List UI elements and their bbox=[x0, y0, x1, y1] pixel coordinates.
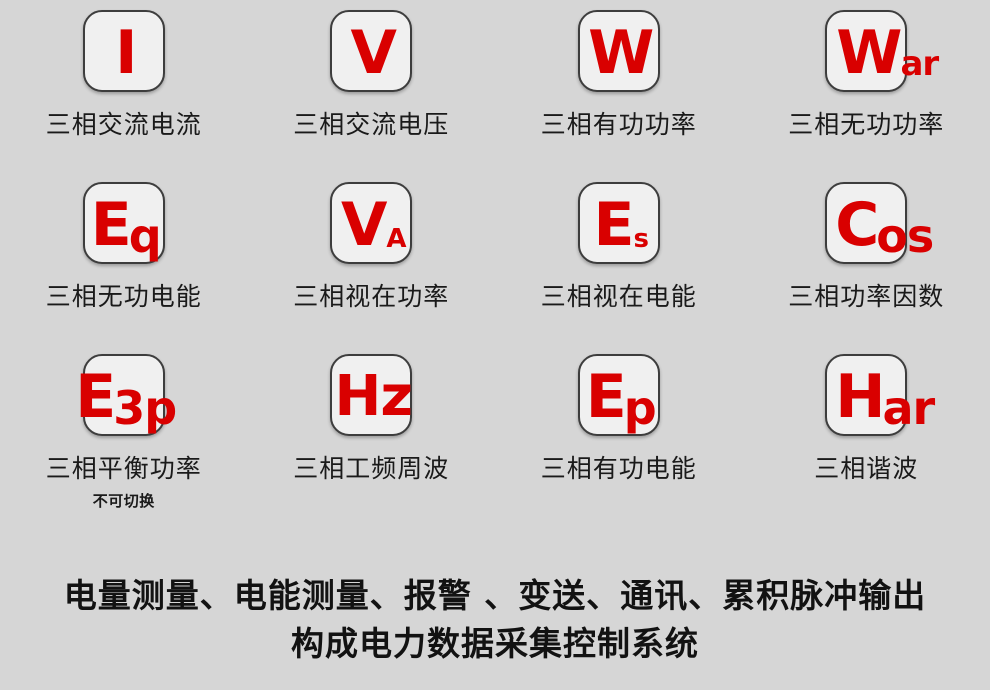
feature-item-reactive-power[interactable]: War 三相无功功率 bbox=[743, 10, 990, 141]
power-factor-icon-glyph: Cos bbox=[827, 184, 950, 266]
feature-item-active-power[interactable]: W 三相有功功率 bbox=[495, 10, 743, 141]
feature-label: 三相交流电压 bbox=[293, 105, 449, 141]
feature-item-reactive-energy[interactable]: Eq 三相无功电能 bbox=[0, 182, 248, 313]
feature-item-apparent-power[interactable]: VA 三相视在功率 bbox=[248, 182, 496, 313]
reactive-energy-icon[interactable]: Eq bbox=[83, 182, 165, 264]
feature-item-current[interactable]: I 三相交流电流 bbox=[0, 10, 248, 141]
footer-line-2: 构成电力数据采集控制系统 bbox=[0, 620, 990, 668]
feature-label: 三相有功功率 bbox=[541, 105, 697, 141]
feature-item-balanced-power[interactable]: E3p 三相平衡功率 不可切换 bbox=[0, 354, 248, 511]
power-factor-icon[interactable]: Cos bbox=[825, 182, 907, 264]
current-icon[interactable]: I bbox=[83, 10, 165, 92]
balanced-power-icon[interactable]: E3p bbox=[83, 354, 165, 436]
active-power-icon[interactable]: W bbox=[578, 10, 660, 92]
feature-label: 三相无功电能 bbox=[46, 277, 202, 313]
frequency-icon[interactable]: Hz bbox=[330, 354, 412, 436]
current-icon-glyph: I bbox=[85, 12, 167, 94]
apparent-power-icon[interactable]: VA bbox=[330, 182, 412, 264]
active-energy-icon[interactable]: Ep bbox=[578, 354, 660, 436]
feature-label: 三相无功功率 bbox=[788, 105, 944, 141]
harmonics-icon[interactable]: Har bbox=[825, 354, 907, 436]
footer-line-1: 电量测量、电能测量、报警 、变送、通讯、累积脉冲输出 bbox=[0, 572, 990, 620]
feature-grid: I 三相交流电流 V 三相交流电压 W 三相有功功率 War 三相无功功率 Eq… bbox=[0, 0, 990, 526]
feature-item-apparent-energy[interactable]: Es 三相视在电能 bbox=[495, 182, 743, 313]
feature-item-harmonics[interactable]: Har 三相谐波 bbox=[743, 354, 990, 485]
balanced-power-icon-glyph: E3p bbox=[85, 356, 167, 438]
feature-item-power-factor[interactable]: Cos 三相功率因数 bbox=[743, 182, 990, 313]
feature-label: 三相有功电能 bbox=[541, 449, 697, 485]
feature-item-active-energy[interactable]: Ep 三相有功电能 bbox=[495, 354, 743, 485]
apparent-energy-icon[interactable]: Es bbox=[578, 182, 660, 264]
active-energy-icon-glyph: Ep bbox=[580, 356, 662, 438]
harmonics-icon-glyph: Har bbox=[827, 356, 950, 438]
feature-sublabel: 不可切换 bbox=[93, 490, 155, 511]
apparent-energy-icon-glyph: Es bbox=[580, 184, 662, 266]
active-power-icon-glyph: W bbox=[580, 12, 662, 94]
feature-label: 三相平衡功率 bbox=[46, 449, 202, 485]
footer-description: 电量测量、电能测量、报警 、变送、通讯、累积脉冲输出 构成电力数据采集控制系统 bbox=[0, 572, 990, 668]
reactive-power-icon[interactable]: War bbox=[825, 10, 907, 92]
feature-label: 三相功率因数 bbox=[788, 277, 944, 313]
voltage-icon[interactable]: V bbox=[330, 10, 412, 92]
feature-label: 三相视在电能 bbox=[541, 277, 697, 313]
reactive-power-icon-glyph: War bbox=[827, 12, 956, 94]
feature-label: 三相谐波 bbox=[814, 449, 918, 485]
feature-label: 三相视在功率 bbox=[293, 277, 449, 313]
feature-label: 三相工频周波 bbox=[293, 449, 449, 485]
frequency-icon-glyph: Hz bbox=[332, 356, 414, 438]
apparent-power-icon-glyph: VA bbox=[332, 184, 414, 266]
feature-item-voltage[interactable]: V 三相交流电压 bbox=[248, 10, 496, 141]
reactive-energy-icon-glyph: Eq bbox=[85, 184, 167, 266]
feature-label: 三相交流电流 bbox=[46, 105, 202, 141]
feature-item-frequency[interactable]: Hz 三相工频周波 bbox=[248, 354, 496, 485]
voltage-icon-glyph: V bbox=[332, 12, 414, 94]
